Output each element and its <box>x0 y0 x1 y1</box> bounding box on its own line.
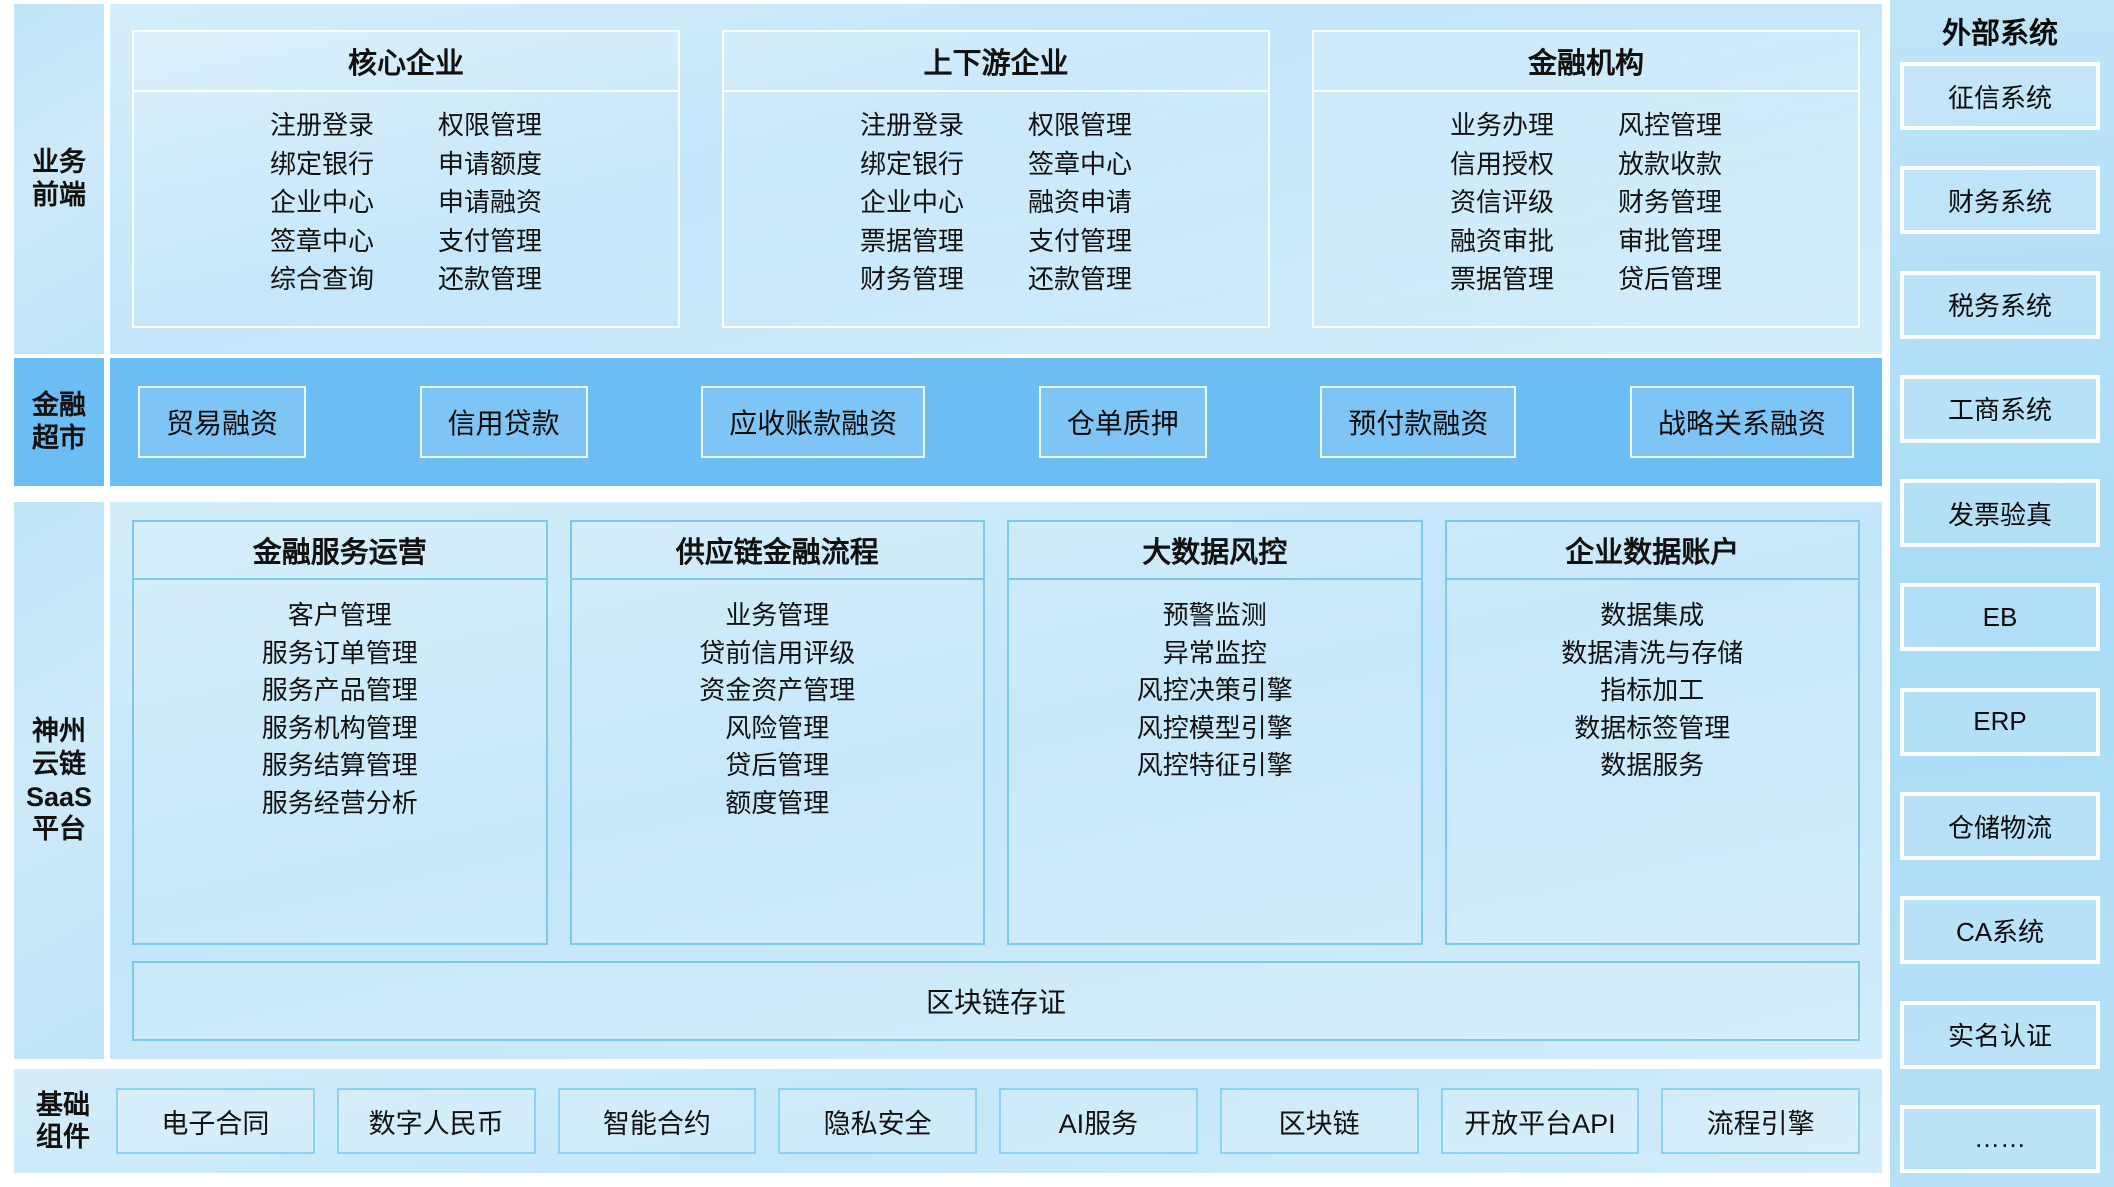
list-item: 指标加工 <box>1600 673 1704 708</box>
list-item: 贷后管理 <box>725 748 829 783</box>
list-item: 申请融资 <box>438 185 542 220</box>
card-body: 预警监测 异常监控 风控决策引擎 风控模型引擎 风控特征引擎 <box>1009 580 1421 943</box>
list-item: 绑定银行 <box>270 147 374 182</box>
card-column-right: 权限管理 申请额度 申请融资 支付管理 还款管理 <box>438 108 542 326</box>
list-item: 贷后管理 <box>1618 262 1722 297</box>
list-item: 信用授权 <box>1450 147 1554 182</box>
sidebar-item-business-registration-system[interactable]: 工商系统 <box>1900 375 2100 443</box>
sidebar-item-eb[interactable]: EB <box>1900 583 2100 651</box>
blockchain-evidence-bar[interactable]: 区块链存证 <box>132 961 1860 1041</box>
list-item: 申请额度 <box>438 147 542 182</box>
sidebar-item-more[interactable]: …… <box>1900 1105 2100 1173</box>
list-item: 预警监测 <box>1163 598 1267 633</box>
saas-card-enterprise-data-account[interactable]: 企业数据账户 数据集成 数据清洗与存储 指标加工 数据标签管理 数据服务 <box>1445 520 1861 945</box>
list-item: 额度管理 <box>725 786 829 821</box>
card-title: 核心企业 <box>134 32 678 92</box>
card-title: 大数据风控 <box>1009 522 1421 580</box>
base-chip-digital-rmb[interactable]: 数字人民币 <box>337 1088 536 1154</box>
list-item: 财务管理 <box>860 262 964 297</box>
list-item: 数据清洗与存储 <box>1561 636 1743 671</box>
list-item: 数据集成 <box>1600 598 1704 633</box>
list-item: 签章中心 <box>1028 147 1132 182</box>
finance-market-row: 金融 超市 贸易融资 信用贷款 应收账款融资 仓单质押 预付款融资 战略关系融资 <box>0 358 1890 494</box>
list-item: 风控特征引擎 <box>1137 748 1293 783</box>
band-label-base-components: 基础 组件 <box>36 1089 90 1154</box>
list-item: 服务机构管理 <box>262 711 418 746</box>
list-item: 风险管理 <box>725 711 829 746</box>
list-item: 数据标签管理 <box>1574 711 1730 746</box>
architecture-diagram: 业务 前端 核心企业 注册登录 绑定银行 企业中心 签章中心 综合查询 权限管 <box>0 0 2114 1187</box>
list-item: 权限管理 <box>438 108 542 143</box>
sidebar-list: 征信系统 财务系统 税务系统 工商系统 发票验真 EB ERP 仓储物流 CA系… <box>1900 62 2100 1177</box>
list-item: 权限管理 <box>1028 108 1132 143</box>
base-components-chip-group: 电子合同 数字人民币 智能合约 隐私安全 AI服务 区块链 开放平台API 流程… <box>116 1088 1860 1154</box>
front-card-upstream-downstream-enterprise[interactable]: 上下游企业 注册登录 绑定银行 企业中心 票据管理 财务管理 权限管理 签章中心 <box>722 30 1270 328</box>
saas-card-supply-chain-finance-process[interactable]: 供应链金融流程 业务管理 贷前信用评级 资金资产管理 风险管理 贷后管理 额度管… <box>570 520 986 945</box>
finance-market-panel: 贸易融资 信用贷款 应收账款融资 仓单质押 预付款融资 战略关系融资 <box>110 358 1882 486</box>
base-components-row: 基础 组件 电子合同 数字人民币 智能合约 隐私安全 AI服务 区块链 开放平台… <box>0 1063 1890 1187</box>
main-column: 业务 前端 核心企业 注册登录 绑定银行 企业中心 签章中心 综合查询 权限管 <box>0 0 1890 1187</box>
list-item: 服务产品管理 <box>262 673 418 708</box>
sidebar-item-warehouse-logistics[interactable]: 仓储物流 <box>1900 792 2100 860</box>
card-body: 注册登录 绑定银行 企业中心 签章中心 综合查询 权限管理 申请额度 申请融资 … <box>134 92 678 326</box>
sidebar-title: 外部系统 <box>1900 4 2100 62</box>
list-item: 风控决策引擎 <box>1137 673 1293 708</box>
list-item: 服务结算管理 <box>262 748 418 783</box>
band-label-saas-platform: 神州 云链 SaaS 平台 <box>14 502 104 1059</box>
external-systems-sidebar: 外部系统 征信系统 财务系统 税务系统 工商系统 发票验真 EB ERP 仓储物… <box>1890 0 2114 1187</box>
list-item: 融资审批 <box>1450 224 1554 259</box>
finance-product-receivables[interactable]: 应收账款融资 <box>701 386 925 458</box>
band-label-finance-market: 金融 超市 <box>14 358 104 486</box>
finance-product-credit-loan[interactable]: 信用贷款 <box>420 386 588 458</box>
card-column-left: 业务办理 信用授权 资信评级 融资审批 票据管理 <box>1450 108 1554 326</box>
base-chip-blockchain[interactable]: 区块链 <box>1220 1088 1419 1154</box>
saas-platform-panel: 金融服务运营 客户管理 服务订单管理 服务产品管理 服务机构管理 服务结算管理 … <box>110 502 1882 1059</box>
card-column-right: 风控管理 放款收款 财务管理 审批管理 贷后管理 <box>1618 108 1722 326</box>
list-item: 企业中心 <box>860 185 964 220</box>
list-item: 注册登录 <box>860 108 964 143</box>
card-title: 金融服务运营 <box>134 522 546 580</box>
finance-product-prepayment[interactable]: 预付款融资 <box>1320 386 1516 458</box>
base-chip-privacy-security[interactable]: 隐私安全 <box>778 1088 977 1154</box>
list-item: 资信评级 <box>1450 185 1554 220</box>
list-item: 风控模型引擎 <box>1137 711 1293 746</box>
list-item: 签章中心 <box>270 224 374 259</box>
sidebar-item-tax-system[interactable]: 税务系统 <box>1900 271 2100 339</box>
card-title: 供应链金融流程 <box>572 522 984 580</box>
list-item: 票据管理 <box>1450 262 1554 297</box>
saas-platform-row: 神州 云链 SaaS 平台 金融服务运营 客户管理 服务订单管理 服务产品管理 … <box>0 494 1890 1063</box>
card-title: 上下游企业 <box>724 32 1268 92</box>
base-chip-open-platform-api[interactable]: 开放平台API <box>1441 1088 1640 1154</box>
sidebar-item-real-name-authentication[interactable]: 实名认证 <box>1900 1001 2100 1069</box>
card-column-left: 注册登录 绑定银行 企业中心 签章中心 综合查询 <box>270 108 374 326</box>
list-item: 业务管理 <box>725 598 829 633</box>
sidebar-item-finance-system[interactable]: 财务系统 <box>1900 166 2100 234</box>
card-body: 业务办理 信用授权 资信评级 融资审批 票据管理 风控管理 放款收款 财务管理 … <box>1314 92 1858 326</box>
list-item: 还款管理 <box>1028 262 1132 297</box>
list-item: 资金资产管理 <box>699 673 855 708</box>
card-title: 金融机构 <box>1314 32 1858 92</box>
saas-card-group: 金融服务运营 客户管理 服务订单管理 服务产品管理 服务机构管理 服务结算管理 … <box>132 520 1860 945</box>
list-item: 审批管理 <box>1618 224 1722 259</box>
card-body: 注册登录 绑定银行 企业中心 票据管理 财务管理 权限管理 签章中心 融资申请 … <box>724 92 1268 326</box>
base-chip-process-engine[interactable]: 流程引擎 <box>1661 1088 1860 1154</box>
card-column-right: 权限管理 签章中心 融资申请 支付管理 还款管理 <box>1028 108 1132 326</box>
front-end-row: 业务 前端 核心企业 注册登录 绑定银行 企业中心 签章中心 综合查询 权限管 <box>0 0 1890 358</box>
base-chip-smart-contract[interactable]: 智能合约 <box>558 1088 757 1154</box>
list-item: 业务办理 <box>1450 108 1554 143</box>
list-item: 服务经营分析 <box>262 786 418 821</box>
list-item: 财务管理 <box>1618 185 1722 220</box>
list-item: 注册登录 <box>270 108 374 143</box>
finance-product-strategic[interactable]: 战略关系融资 <box>1630 386 1854 458</box>
list-item: 客户管理 <box>288 598 392 633</box>
list-item: 融资申请 <box>1028 185 1132 220</box>
card-column-left: 注册登录 绑定银行 企业中心 票据管理 财务管理 <box>860 108 964 326</box>
front-end-panel: 核心企业 注册登录 绑定银行 企业中心 签章中心 综合查询 权限管理 申请额度 <box>110 4 1882 354</box>
card-title: 企业数据账户 <box>1447 522 1859 580</box>
base-components-panel: 基础 组件 电子合同 数字人民币 智能合约 隐私安全 AI服务 区块链 开放平台… <box>14 1069 1882 1173</box>
list-item: 企业中心 <box>270 185 374 220</box>
list-item: 绑定银行 <box>860 147 964 182</box>
list-item: 票据管理 <box>860 224 964 259</box>
card-body: 业务管理 贷前信用评级 资金资产管理 风险管理 贷后管理 额度管理 <box>572 580 984 943</box>
sidebar-item-invoice-verification[interactable]: 发票验真 <box>1900 479 2100 547</box>
saas-card-big-data-risk-control[interactable]: 大数据风控 预警监测 异常监控 风控决策引擎 风控模型引擎 风控特征引擎 <box>1007 520 1423 945</box>
sidebar-item-erp[interactable]: ERP <box>1900 688 2100 756</box>
list-item: 服务订单管理 <box>262 636 418 671</box>
list-item: 综合查询 <box>270 262 374 297</box>
card-body: 数据集成 数据清洗与存储 指标加工 数据标签管理 数据服务 <box>1447 580 1859 943</box>
front-card-financial-institution[interactable]: 金融机构 业务办理 信用授权 资信评级 融资审批 票据管理 风控管理 放款收款 <box>1312 30 1860 328</box>
list-item: 支付管理 <box>1028 224 1132 259</box>
list-item: 数据服务 <box>1600 748 1704 783</box>
saas-card-financial-service-operation[interactable]: 金融服务运营 客户管理 服务订单管理 服务产品管理 服务机构管理 服务结算管理 … <box>132 520 548 945</box>
front-card-core-enterprise[interactable]: 核心企业 注册登录 绑定银行 企业中心 签章中心 综合查询 权限管理 申请额度 <box>132 30 680 328</box>
band-label-front-end: 业务 前端 <box>14 4 104 354</box>
card-body: 客户管理 服务订单管理 服务产品管理 服务机构管理 服务结算管理 服务经营分析 <box>134 580 546 943</box>
sidebar-item-ca-system[interactable]: CA系统 <box>1900 896 2100 964</box>
list-item: 放款收款 <box>1618 147 1722 182</box>
base-chip-ai-service[interactable]: AI服务 <box>999 1088 1198 1154</box>
list-item: 贷前信用评级 <box>699 636 855 671</box>
list-item: 支付管理 <box>438 224 542 259</box>
finance-product-trade[interactable]: 贸易融资 <box>138 386 306 458</box>
sidebar-item-credit-system[interactable]: 征信系统 <box>1900 62 2100 130</box>
list-item: 风控管理 <box>1618 108 1722 143</box>
base-chip-electronic-contract[interactable]: 电子合同 <box>116 1088 315 1154</box>
finance-product-warehouse-receipt[interactable]: 仓单质押 <box>1039 386 1207 458</box>
list-item: 异常监控 <box>1163 636 1267 671</box>
list-item: 还款管理 <box>438 262 542 297</box>
